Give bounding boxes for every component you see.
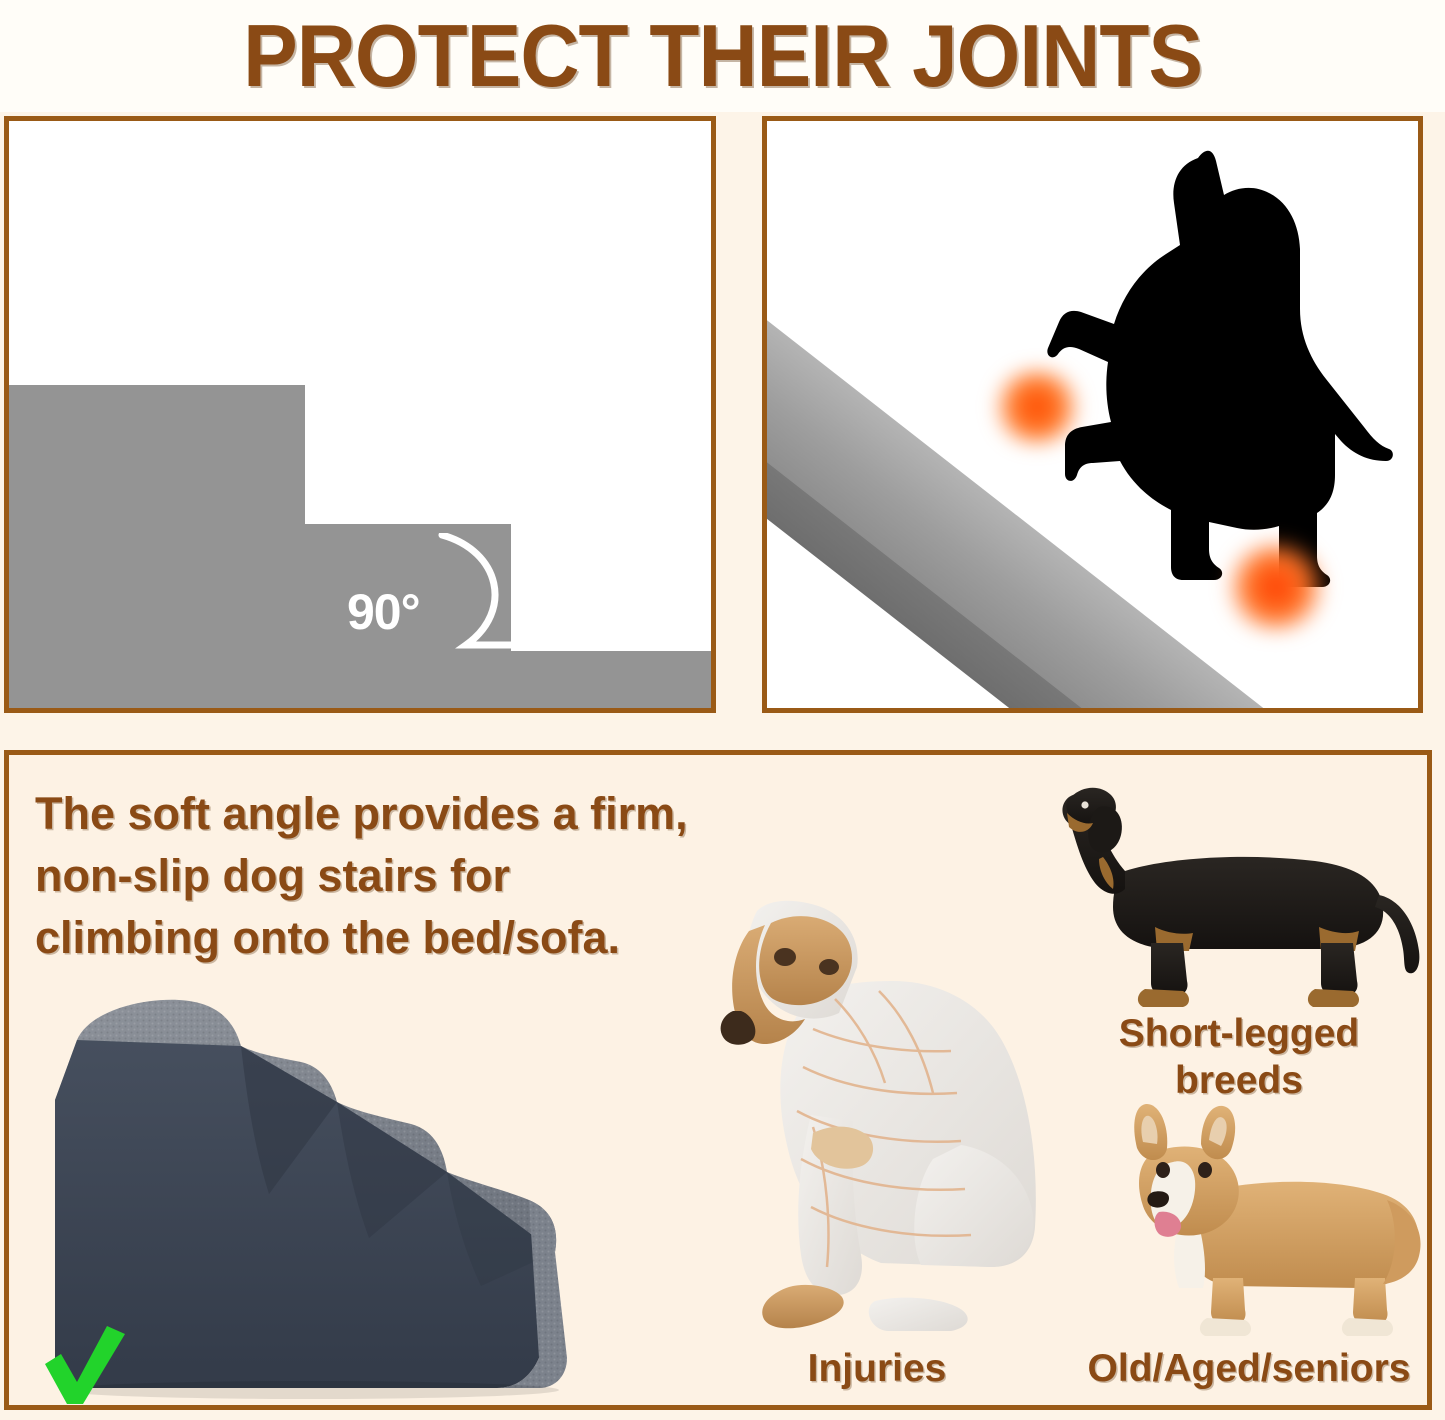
title-bar: PROTECT THEIR JOINTS: [0, 0, 1445, 112]
joint-pain-glow-rear: [1222, 541, 1330, 633]
stairs-diagram: 90°: [9, 121, 711, 708]
stair-block-high: [9, 385, 305, 710]
green-check-icon: [37, 1320, 129, 1408]
benefit-blurb: The soft angle provides a firm, non-slip…: [35, 783, 725, 969]
dachshund-image: [1059, 775, 1429, 1015]
panel-slippery-ramp: Slippery, easy to fall: [762, 116, 1423, 713]
infographic-root: PROTECT THEIR JOINTS 90° Difficulty of c…: [0, 0, 1445, 1420]
caption-injuries: Injuries: [747, 1347, 1007, 1391]
page-title: PROTECT THEIR JOINTS: [243, 12, 1202, 100]
right-angle-arc-icon: [436, 533, 522, 651]
caption-short-legged-breeds: Short-legged breeds: [1089, 1010, 1389, 1104]
panel-difficulty-of-climbing: 90° Difficulty of climbing: [4, 116, 716, 713]
dog-silhouette-icon: [917, 141, 1397, 621]
ramp-diagram: [767, 121, 1418, 708]
panel-product-benefit: The soft angle provides a firm, non-slip…: [4, 750, 1432, 1410]
angle-label: 90°: [347, 587, 420, 637]
caption-old-aged-seniors: Old/Aged/seniors: [1049, 1347, 1432, 1391]
corgi-image: [1101, 1100, 1432, 1340]
stair-block-low: [511, 651, 716, 710]
benefit-blurb-line-2: non-slip dog stairs for: [35, 845, 725, 907]
benefit-blurb-line-1: The soft angle provides a firm,: [35, 783, 725, 845]
injured-dog-image: [661, 815, 1081, 1340]
benefit-blurb-line-3: climbing onto the bed/sofa.: [35, 907, 725, 969]
